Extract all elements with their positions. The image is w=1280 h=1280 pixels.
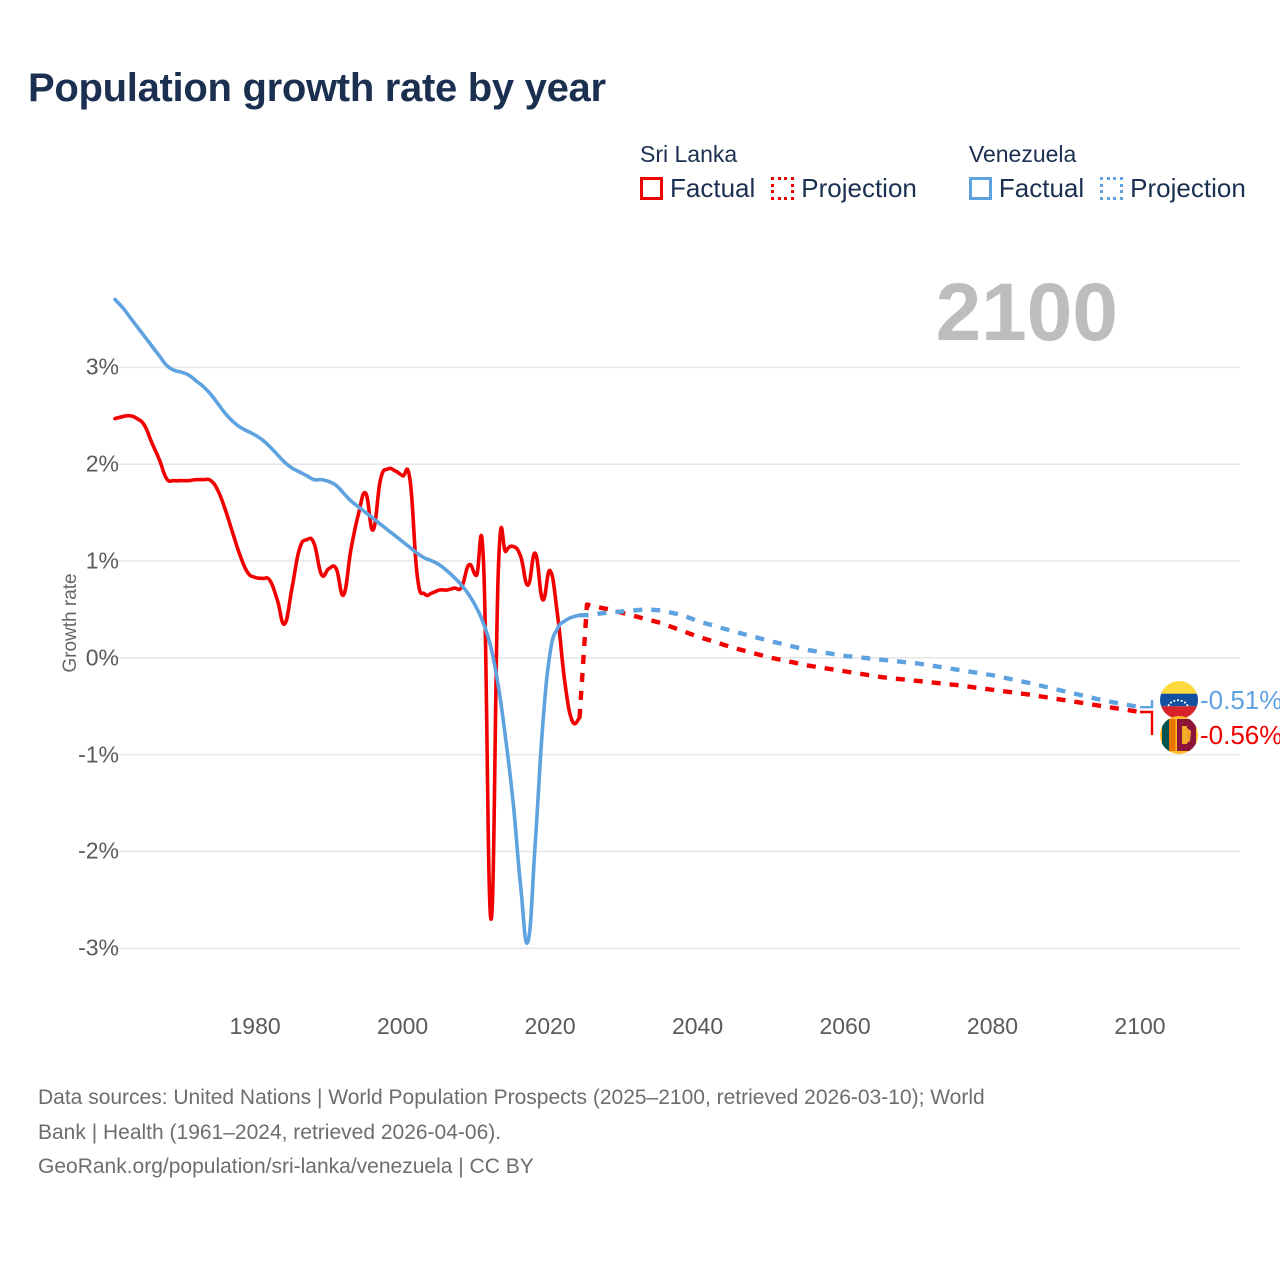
y-axis-tick: -1% <box>39 741 119 768</box>
x-axis-tick: 2100 <box>1114 1013 1165 1040</box>
end-label-sri-lanka[interactable]: -0.56% <box>1160 716 1280 754</box>
y-axis-tick: 2% <box>39 451 119 478</box>
x-axis-tick: 2040 <box>672 1013 723 1040</box>
y-axis-tick: 0% <box>39 644 119 671</box>
x-axis-tick: 2080 <box>967 1013 1018 1040</box>
x-axis-tick: 2000 <box>377 1013 428 1040</box>
x-axis-tick: 1980 <box>230 1013 281 1040</box>
y-axis-tick: -2% <box>39 838 119 865</box>
footer-line-2: Bank | Health (1961–2024, retrieved 2026… <box>38 1117 1248 1150</box>
x-axis-tick: 2060 <box>819 1013 870 1040</box>
end-label-venezuela[interactable]: -0.51% <box>1160 681 1280 719</box>
footer-line-1: Data sources: United Nations | World Pop… <box>38 1082 1248 1115</box>
sri-lanka-flag-icon <box>1160 716 1198 754</box>
footer-sources: Data sources: United Nations | World Pop… <box>38 1082 1248 1186</box>
x-axis-tick: 2020 <box>524 1013 575 1040</box>
series-line-sri-lanka-factual <box>115 416 580 920</box>
y-axis-tick: 3% <box>39 354 119 381</box>
footer-line-3: GeoRank.org/population/sri-lanka/venezue… <box>38 1151 1248 1184</box>
series-line-sri-lanka-projection <box>580 605 1140 718</box>
y-axis-tick: 1% <box>39 547 119 574</box>
series-line-venezuela-factual <box>115 300 580 944</box>
end-value: -0.56% <box>1200 720 1280 751</box>
y-axis-tick: -3% <box>39 935 119 962</box>
venezuela-flag-icon <box>1160 681 1198 719</box>
end-value: -0.51% <box>1200 685 1280 716</box>
